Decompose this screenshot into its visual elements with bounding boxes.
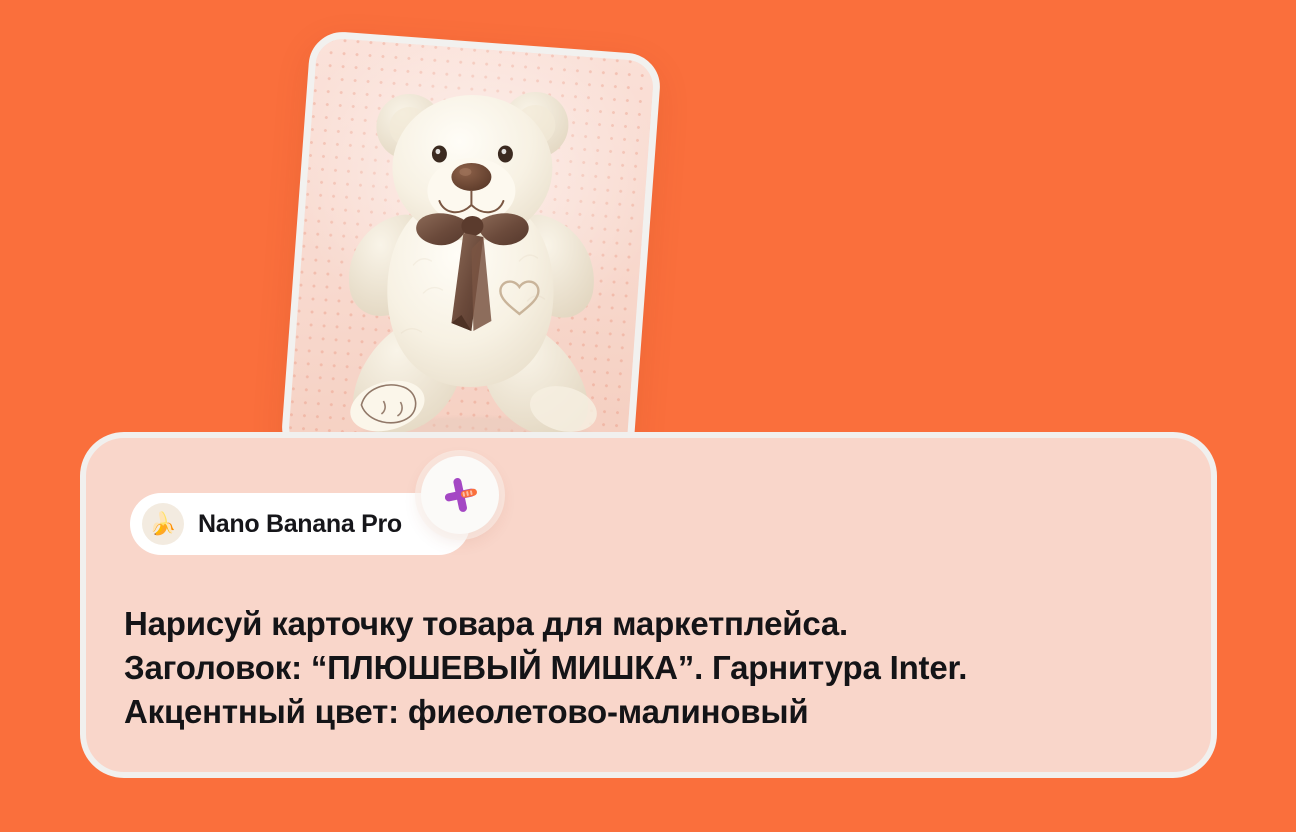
product-card[interactable] [280, 30, 663, 485]
banana-icon: 🍌 [142, 503, 184, 545]
teddy-bear-image [305, 65, 635, 465]
prompt-line-2: Заголовок: “ПЛЮШЕВЫЙ МИШКА”. Гарнитура I… [124, 646, 1184, 690]
model-selector-pill[interactable]: 🍌 Nano Banana Pro [130, 493, 470, 555]
model-name-label: Nano Banana Pro [198, 510, 402, 539]
page-stage: 🍌 Nano Banana Pro Нарисуй карточку товар… [0, 0, 1296, 832]
prompt-line-1: Нарисуй карточку товара для маркетплейса… [124, 602, 1184, 646]
prompt-text: Нарисуй карточку товара для маркетплейса… [124, 602, 1184, 734]
sparkle-plus-icon[interactable] [421, 456, 499, 534]
prompt-line-3: Акцентный цвет: фиеолетово-малиновый [124, 690, 1184, 734]
